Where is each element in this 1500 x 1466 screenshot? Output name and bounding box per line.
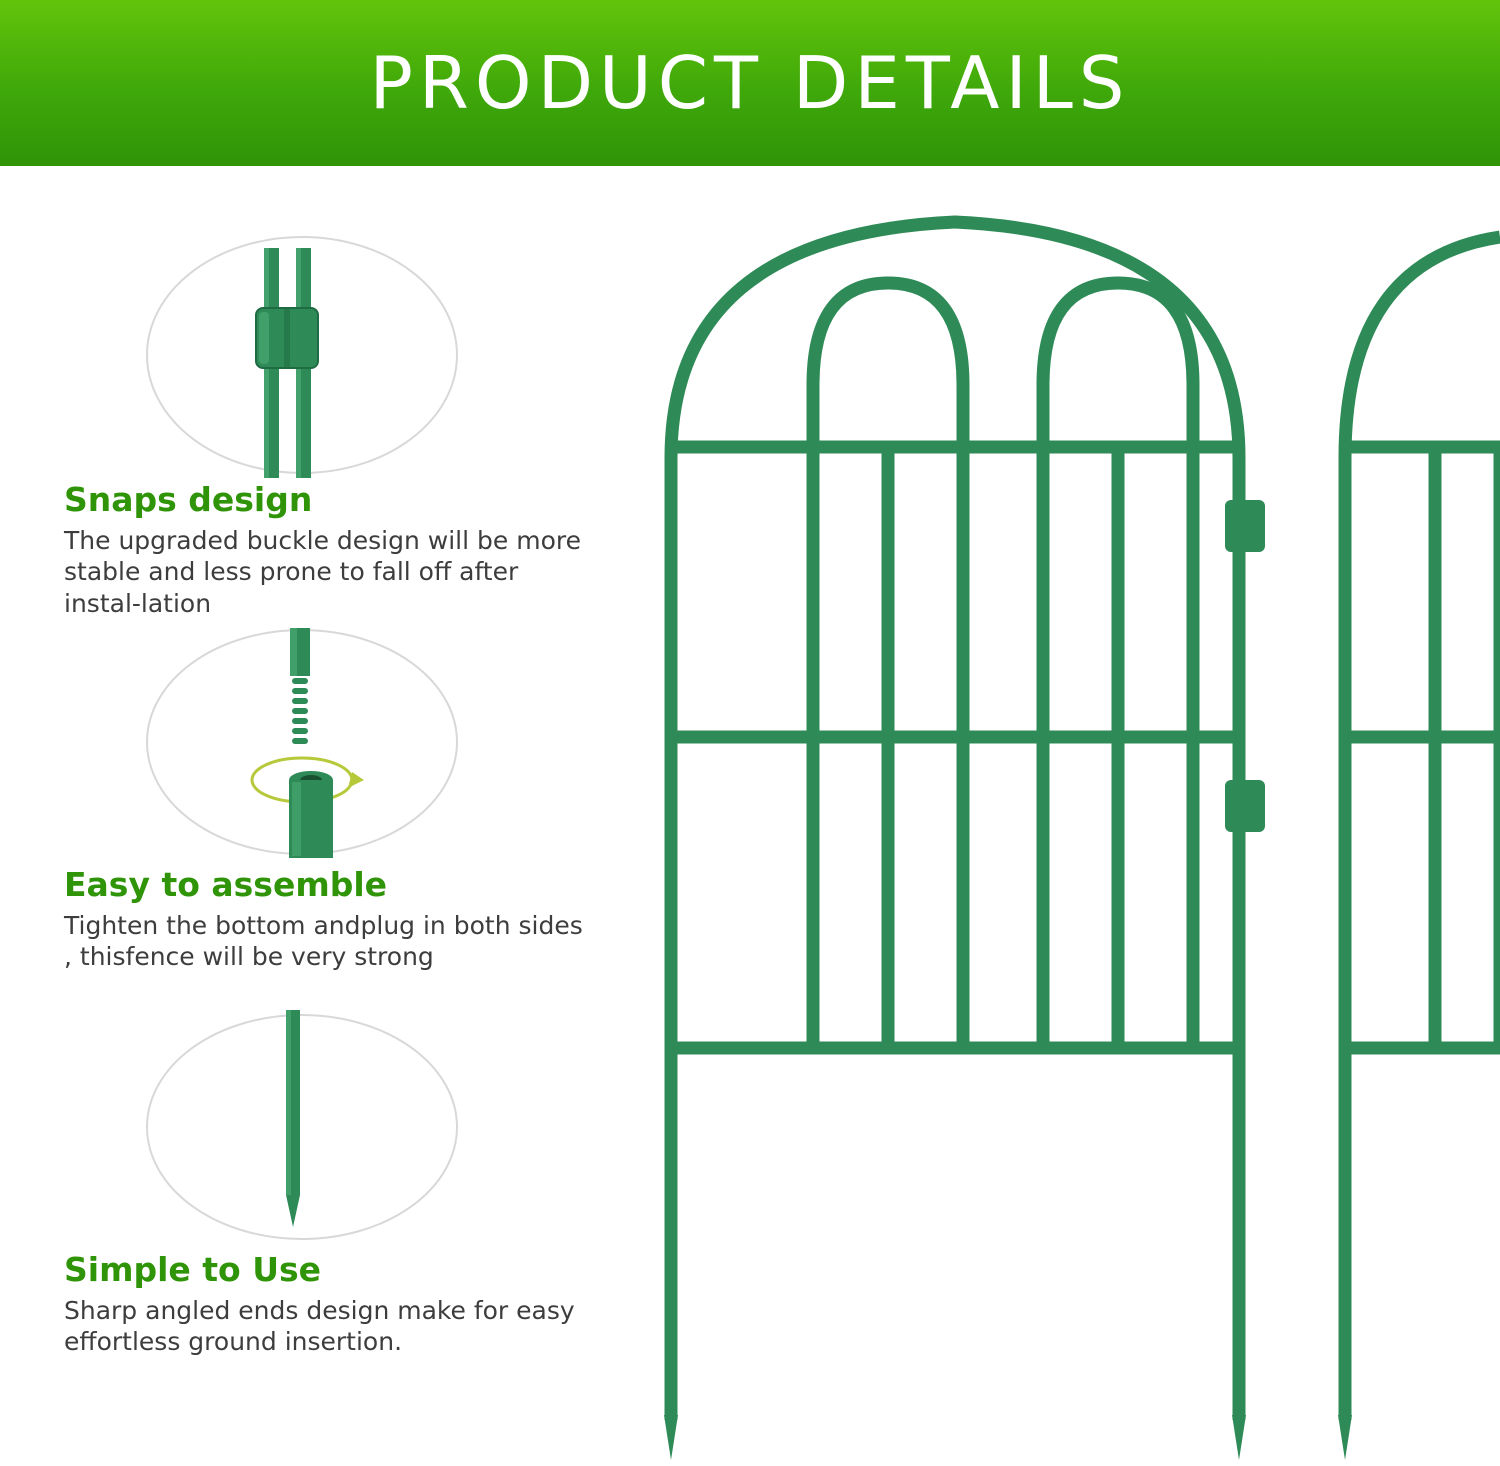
page-header-banner: PRODUCT DETAILS: [0, 0, 1500, 166]
stake-point-right: [1338, 1415, 1352, 1460]
feature-item-easy-to-assemble: Easy to assemble Tighten the bottom andp…: [0, 620, 640, 973]
feature-description-simple-to-use: Sharp angled ends design make for easy e…: [64, 1295, 584, 1358]
feature-item-simple-to-use: Simple to Use Sharp angled ends design m…: [0, 1005, 640, 1358]
easy-to-assemble-diagram: [0, 620, 640, 865]
snaps-design-diagram: [0, 220, 640, 480]
feature-item-snaps-design: Snaps design The upgraded buckle design …: [0, 220, 640, 619]
feature-description-easy-to-assemble: Tighten the bottom andplug in both sides…: [64, 910, 584, 973]
page-title: PRODUCT DETAILS: [369, 47, 1130, 119]
product-photo-fence-panel: [645, 175, 1500, 1466]
stake-point-left: [664, 1415, 678, 1460]
buckle-connector-bottom: [1225, 780, 1265, 832]
stake-point-mid: [1232, 1415, 1246, 1460]
feature-illustration-simple-to-use: [0, 1005, 640, 1250]
feature-description-snaps-design: The upgraded buckle design will be more …: [64, 525, 584, 619]
feature-title-snaps-design: Snaps design: [64, 480, 640, 519]
feature-title-easy-to-assemble: Easy to assemble: [64, 865, 640, 904]
feature-illustration-easy-to-assemble: [0, 620, 640, 865]
fence-panel-illustration: [645, 175, 1500, 1466]
buckle-connector-top: [1225, 500, 1265, 552]
feature-illustration-snaps-design: [0, 220, 640, 480]
feature-list: Snaps design The upgraded buckle design …: [0, 180, 640, 1460]
feature-title-simple-to-use: Simple to Use: [64, 1250, 640, 1289]
simple-to-use-diagram: [0, 1005, 640, 1250]
